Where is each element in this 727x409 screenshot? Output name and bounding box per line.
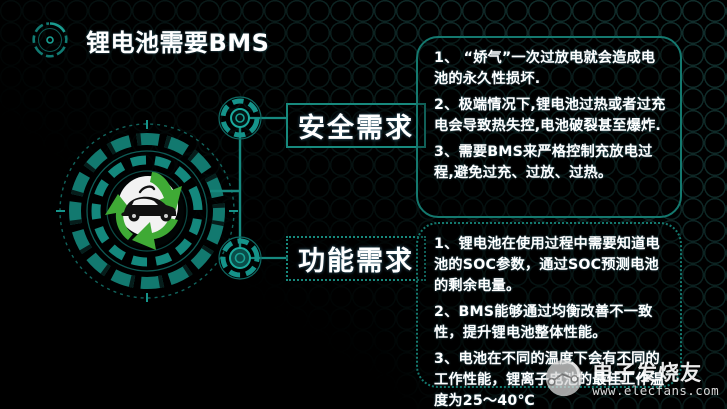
panel-safety-requirement: 1、 “娇气”一次过放电就会造成电池的永久性损坏. 2、极端情况下,锂电池过热或… [416,36,682,218]
watermark: 电子发烧友 www.elecfans.com [543,357,719,403]
segmented-ring-icon [28,18,72,62]
watermark-url: www.elecfans.com [592,384,719,397]
panel-function-item: 2、BMS能够通过均衡改善不一致性，提升锂电池整体性能。 [434,302,667,344]
panel-function-item: 1、锂电池在使用过程中需要知道电池的SOC参数，通过SOC预测电池的剩余电量。 [434,234,667,297]
panel-safety-item: 2、极端情况下,锂电池过热或者过充电会导致热失控,电池破裂甚至爆炸. [434,95,667,137]
chip-safety-requirement[interactable]: 安全需求 [286,103,426,148]
node-ring-icon [217,235,262,280]
page-title: 锂电池需要BMS [86,23,269,58]
header: 锂电池需要BMS [28,18,269,62]
recycle-car-battery-icon [96,158,200,262]
circuit-node-icon [543,357,585,403]
watermark-brand: 电子发烧友 [592,362,719,384]
slide-canvas: 锂电池需要BMS [0,0,727,409]
chip-function-label: 功能需求 [298,239,414,278]
panel-safety-item: 3、需要BMS来严格控制充放电过程,避免过充、过放、过热。 [434,142,667,184]
chip-safety-label: 安全需求 [298,106,414,145]
chip-function-requirement[interactable]: 功能需求 [286,236,426,281]
panel-safety-item: 1、 “娇气”一次过放电就会造成电池的永久性损坏. [434,48,667,90]
